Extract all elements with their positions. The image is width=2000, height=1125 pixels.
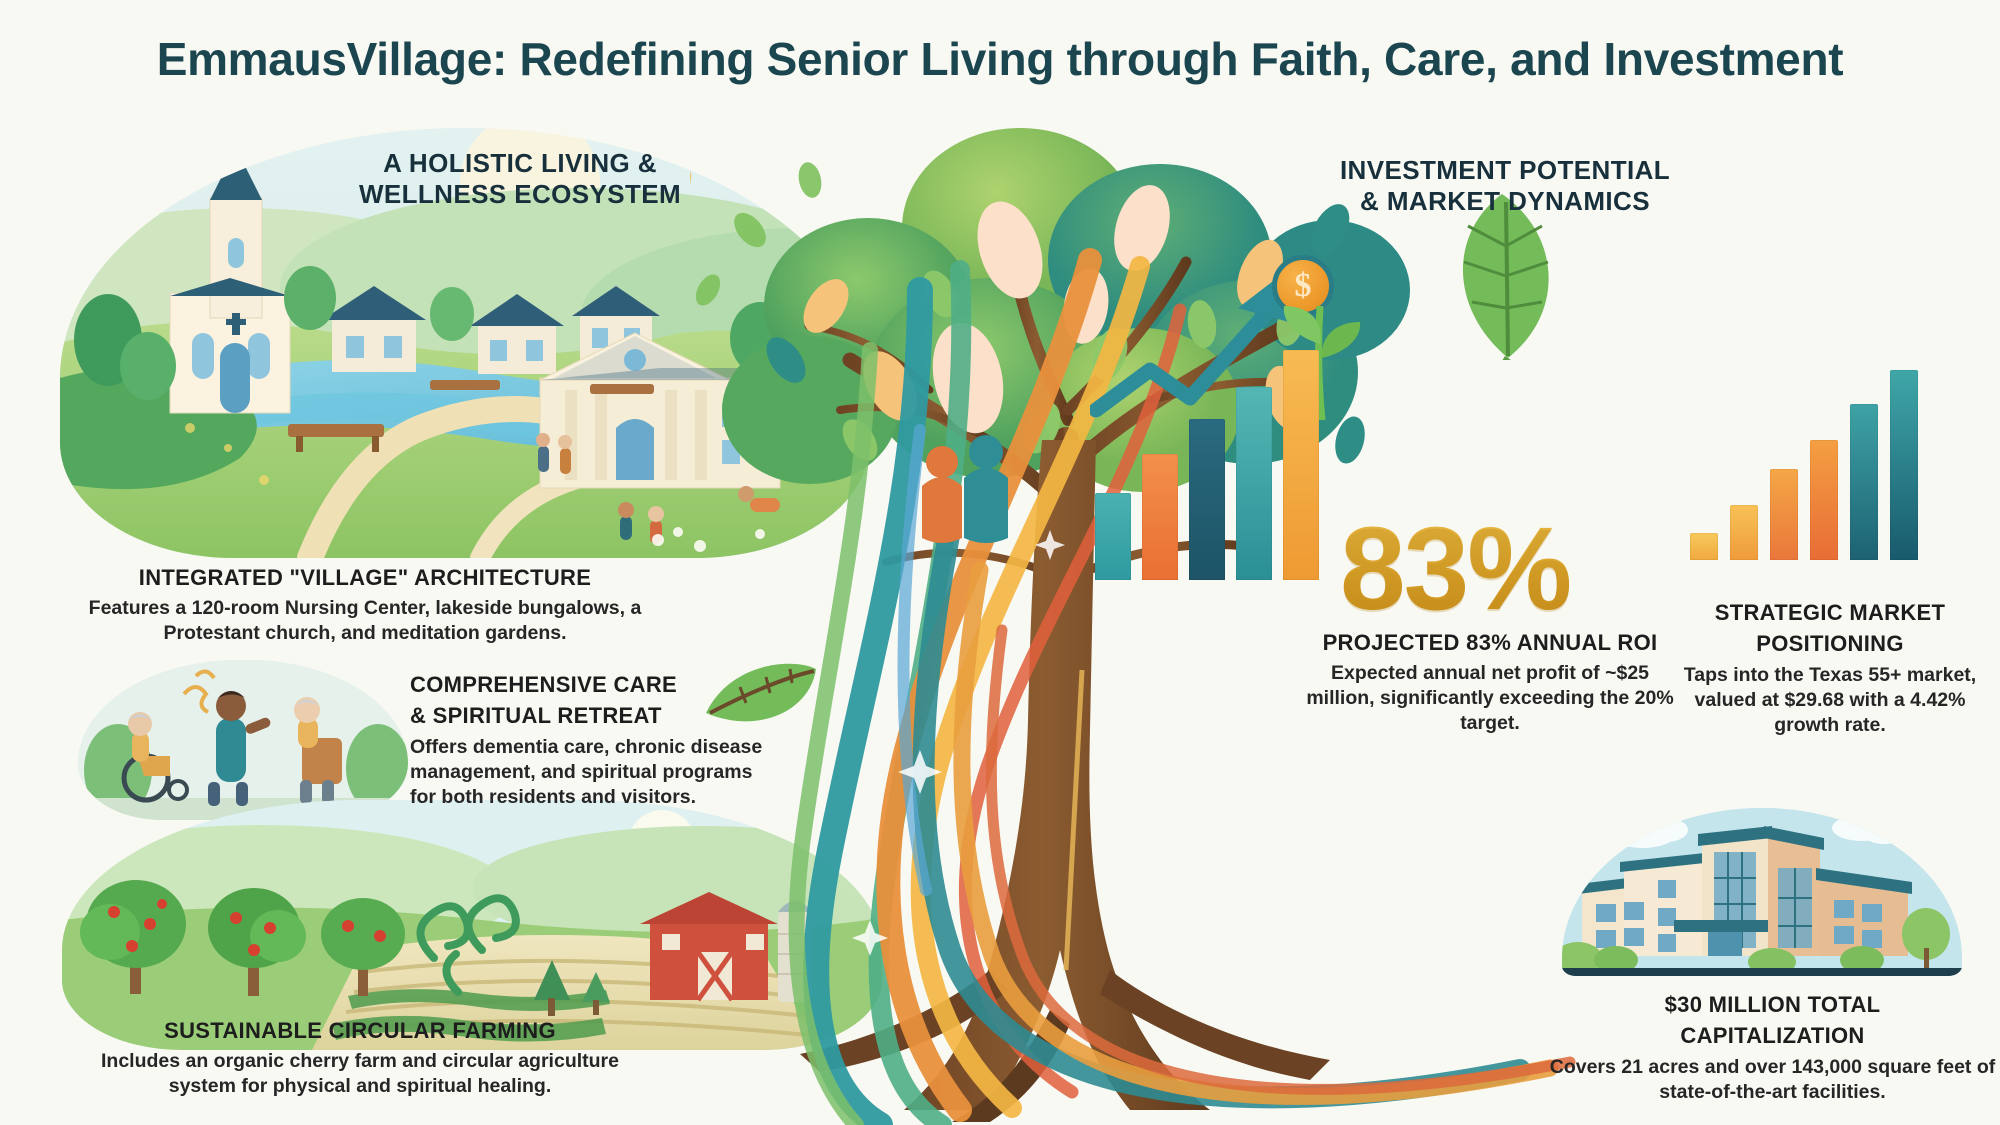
section-header-left: A HOLISTIC LIVING & WELLNESS ECOSYSTEM [330,148,710,209]
bar-2 [1142,454,1178,581]
bar-3 [1770,469,1798,560]
block-farming: SUSTAINABLE CIRCULAR FARMING Includes an… [80,1018,640,1099]
facility-illustration [1562,808,1962,976]
market-body: Taps into the Texas 55+ market, valued a… [1670,663,1990,738]
facility-scene-svg [1562,808,1962,976]
section-header-right: INVESTMENT POTENTIAL & MARKET DYNAMICS [1290,155,1720,216]
care-scene-svg [78,660,408,820]
title-brand: EmmausVillage [157,33,492,85]
capitalization-heading-line-2: CAPITALIZATION [1545,1023,2000,1049]
bar-6 [1890,370,1918,560]
farming-body: Includes an organic cherry farm and circ… [80,1049,640,1099]
bar-3 [1189,419,1225,580]
left-header-line-1: A HOLISTIC LIVING & [330,148,710,179]
care-heading-line-1: COMPREHENSIVE CARE [410,672,770,698]
block-architecture: INTEGRATED "VILLAGE" ARCHITECTURE Featur… [85,565,645,646]
care-illustration [78,660,408,820]
right-header-line-1: INVESTMENT POTENTIAL [1290,155,1720,186]
page-title: EmmausVillage: Redefining Senior Living … [0,32,2000,86]
right-header-line-2: & MARKET DYNAMICS [1290,186,1720,217]
block-capitalization: $30 MILLION TOTAL CAPITALIZATION Covers … [1545,992,2000,1105]
care-heading-line-2: & SPIRITUAL RETREAT [410,703,770,729]
bar-1 [1095,493,1131,580]
bar-1 [1690,533,1718,560]
block-roi: PROJECTED 83% ANNUAL ROI Expected annual… [1300,630,1680,736]
architecture-body: Features a 120-room Nursing Center, lake… [85,596,645,646]
market-heading-line-1: STRATEGIC MARKET [1670,600,1990,626]
block-market-positioning: STRATEGIC MARKET POSITIONING Taps into t… [1670,600,1990,738]
capitalization-heading-line-1: $30 MILLION TOTAL [1545,992,2000,1018]
block-care: COMPREHENSIVE CARE & SPIRITUAL RETREAT O… [410,672,770,810]
bar-4 [1236,387,1272,580]
growth-bar-chart-secondary [1690,370,1918,560]
roi-body: Expected annual net profit of ~$25 milli… [1300,661,1680,736]
care-body: Offers dementia care, chronic disease ma… [410,735,770,810]
bar-5 [1850,404,1878,560]
roi-heading: PROJECTED 83% ANNUAL ROI [1300,630,1680,656]
bar-4 [1810,440,1838,560]
farming-heading: SUSTAINABLE CIRCULAR FARMING [80,1018,640,1044]
capitalization-body: Covers 21 acres and over 143,000 square … [1545,1055,2000,1105]
roi-stat-value: 83% [1340,510,1570,628]
bar-5 [1283,350,1319,580]
infographic-canvas: EmmausVillage: Redefining Senior Living … [0,0,2000,1125]
growth-bar-chart-main [1095,350,1319,580]
market-heading-line-2: POSITIONING [1670,631,1990,657]
title-rest: : Redefining Senior Living through Faith… [492,33,1843,85]
left-header-line-2: WELLNESS ECOSYSTEM [330,179,710,210]
bar-2 [1730,505,1758,560]
architecture-heading: INTEGRATED "VILLAGE" ARCHITECTURE [85,565,645,591]
